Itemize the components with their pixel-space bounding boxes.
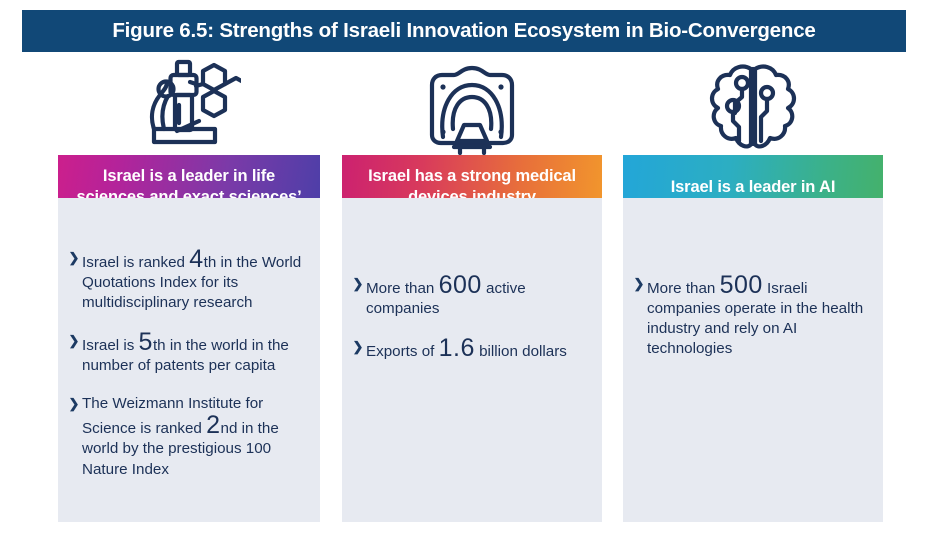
bullet-text: Israel is 5th in the world in the number…: [82, 331, 310, 376]
bullet-pre: More than: [647, 280, 720, 297]
list-item: ❯ Israel is 5th in the world in the numb…: [66, 331, 310, 376]
bullet-value: 4: [189, 245, 203, 273]
column-artificial-intelligence: Israel is a leader in AI ❯ More than 500…: [623, 58, 883, 528]
bullet-pre: Israel is: [82, 337, 139, 354]
icon-zone: [342, 58, 602, 155]
page-title: Figure 6.5: Strengths of Israeli Innovat…: [112, 19, 815, 43]
column-body-panel: ❯ More than 500 Israeli companies operat…: [623, 198, 883, 522]
bullet-text: Exports of 1.6 billion dollars: [366, 337, 592, 362]
column-body-panel: ❯ More than 600 active companies ❯ Expor…: [342, 198, 602, 522]
bullet-text: The Weizmann Institute for Science is ra…: [82, 394, 310, 479]
list-item: ❯ Exports of 1.6 billion dollars: [350, 337, 592, 362]
bullet-list: ❯ More than 500 Israeli companies operat…: [623, 274, 883, 377]
column-header-text: Israel is a leader in AI: [657, 155, 850, 198]
bullet-text: More than 500 Israeli companies operate …: [647, 274, 873, 359]
list-item: ❯ More than 600 active companies: [350, 274, 592, 319]
figure-container: Figure 6.5: Strengths of Israeli Innovat…: [0, 0, 936, 535]
figure-title-bar: Figure 6.5: Strengths of Israeli Innovat…: [22, 10, 906, 52]
bullet-value: 5: [139, 328, 153, 356]
bullet-pre: Israel is ranked: [82, 254, 189, 271]
chevron-right-icon: ❯: [66, 394, 82, 412]
bullet-list: ❯ Israel is ranked 4th in the World Quot…: [58, 248, 320, 498]
column-life-sciences: Israel is a leader in life sciences and …: [58, 58, 320, 528]
list-item: ❯ The Weizmann Institute for Science is …: [66, 394, 310, 479]
chevron-right-icon: ❯: [350, 274, 366, 292]
bullet-list: ❯ More than 600 active companies ❯ Expor…: [342, 274, 602, 380]
bullet-text: Israel is ranked 4th in the World Quotat…: [82, 248, 310, 313]
bullet-value: 500: [720, 271, 763, 299]
bullet-value: 600: [439, 271, 482, 299]
chevron-right-icon: ❯: [66, 331, 82, 349]
list-item: ❯ Israel is ranked 4th in the World Quot…: [66, 248, 310, 313]
bullet-pre: Exports of: [366, 343, 439, 360]
list-item: ❯ More than 500 Israeli companies operat…: [631, 274, 873, 359]
icon-zone: [58, 58, 320, 155]
chevron-right-icon: ❯: [66, 248, 82, 266]
ai-brain-icon: [707, 61, 799, 155]
icon-zone: [623, 58, 883, 155]
bullet-value: 1.6: [439, 334, 475, 362]
chevron-right-icon: ❯: [631, 274, 647, 292]
bullet-value: 2: [206, 411, 220, 439]
mri-scanner-icon: [424, 63, 520, 155]
bullet-post: billion dollars: [475, 343, 567, 360]
column-medical-devices: Israel has a strong medical devices indu…: [342, 58, 602, 528]
microscope-icon: [137, 59, 241, 155]
columns-container: Israel is a leader in life sciences and …: [0, 58, 936, 528]
bullet-pre: More than: [366, 280, 439, 297]
chevron-right-icon: ❯: [350, 337, 366, 355]
column-body-panel: ❯ Israel is ranked 4th in the World Quot…: [58, 198, 320, 522]
bullet-text: More than 600 active companies: [366, 274, 592, 319]
